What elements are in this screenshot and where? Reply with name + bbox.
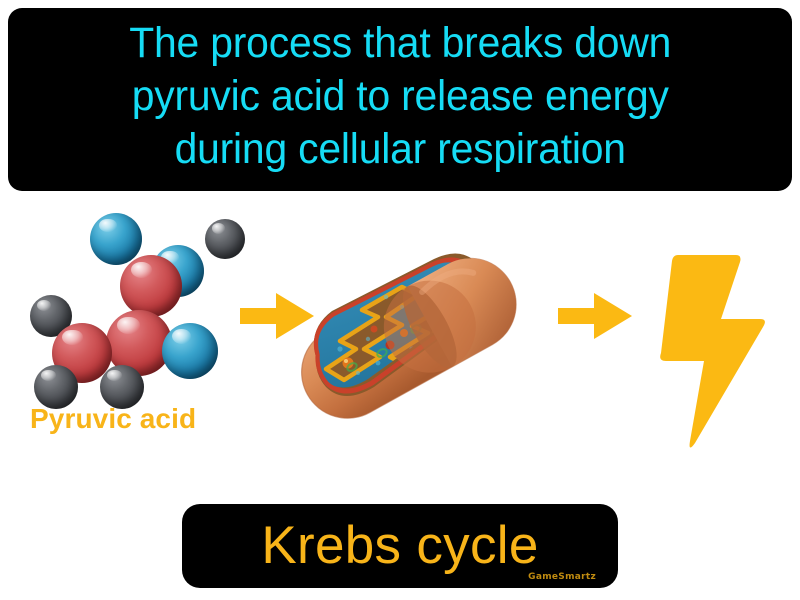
atom-carbon — [120, 255, 182, 317]
arrow-right-icon — [558, 293, 632, 339]
mitochondrion-illustration — [282, 237, 532, 437]
term-label: Krebs cycle — [261, 517, 538, 575]
definition-banner: The process that breaks down pyruvic aci… — [8, 8, 792, 191]
pyruvic-acid-label: Pyruvic acid — [30, 403, 196, 435]
illustration-row: Pyruvic acid — [0, 195, 800, 490]
atom-oxygen — [90, 213, 142, 265]
energy-bolt-icon — [648, 243, 788, 453]
term-banner: Krebs cycle GameSmartz — [182, 504, 618, 588]
watermark-label: GameSmartz — [528, 572, 596, 582]
atom-carbon — [205, 219, 245, 259]
mitochondrion-svg — [282, 237, 532, 437]
lightning-bolt-svg — [648, 243, 788, 453]
definition-text: The process that breaks down pyruvic aci… — [129, 17, 671, 176]
pyruvic-acid-molecule: Pyruvic acid — [12, 205, 247, 455]
atom-oxygen — [162, 323, 218, 379]
arrow-head — [594, 293, 632, 339]
